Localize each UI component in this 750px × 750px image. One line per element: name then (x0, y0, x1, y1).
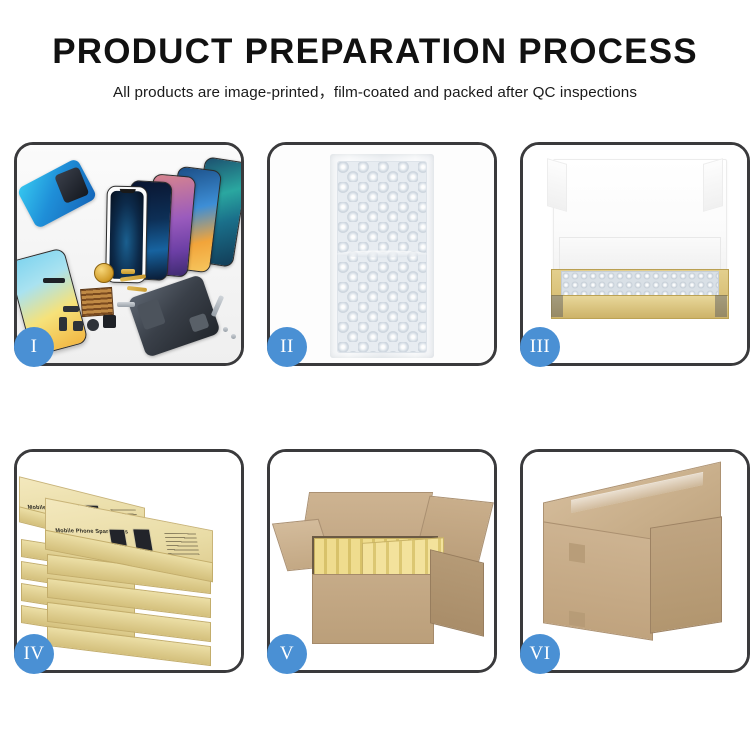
step-badge-1: I (14, 327, 54, 367)
step-panel-5: V (267, 449, 497, 673)
step-image-6 (523, 452, 747, 670)
carton-hand-hole-bottom (569, 611, 585, 628)
process-steps-grid: I II III (14, 142, 736, 673)
wrap-crease (337, 251, 427, 258)
kraft-tray-front (551, 295, 729, 319)
step-image-3 (523, 145, 747, 363)
tray-corner-left (551, 295, 563, 317)
step-image-2 (270, 145, 494, 363)
step-panel-1: I (14, 142, 244, 366)
page-subtitle: All products are image-printed，film-coat… (0, 80, 750, 102)
camera-lens-part (87, 319, 99, 331)
earpiece-part (43, 278, 65, 283)
step-badge-6: VI (520, 634, 560, 674)
page-header: PRODUCT PREPARATION PROCESS All products… (0, 0, 750, 102)
phone-screen-fan (101, 157, 241, 267)
box-stack: Mobile Phone Spare Parts Mobile Phone Sp… (17, 452, 241, 670)
box-spec-lines-2 (164, 533, 199, 556)
carton-side-face (650, 516, 722, 633)
carton-hand-hole-top (569, 543, 585, 564)
small-part-2 (59, 317, 67, 331)
box-lid-flap-left (547, 158, 567, 212)
gold-contact-part (121, 269, 135, 274)
step-panel-4: Mobile Phone Spare Parts Mobile Phone Sp… (14, 449, 244, 673)
metal-bracket-part (117, 302, 135, 307)
screw-part-2 (231, 334, 236, 339)
battery-connector-part (103, 315, 116, 328)
step-badge-5: V (267, 634, 307, 674)
step-badge-3: III (520, 327, 560, 367)
chip-array-part (80, 287, 114, 317)
tray-corner-right (715, 295, 727, 317)
step-badge-4: IV (14, 634, 54, 674)
screw-part-1 (223, 327, 228, 332)
step-image-5 (270, 452, 494, 670)
page-title: PRODUCT PREPARATION PROCESS (0, 34, 750, 71)
step-image-4: Mobile Phone Spare Parts Mobile Phone Sp… (17, 452, 241, 670)
carton-front-face (312, 574, 434, 644)
box-lid-flap-right (703, 158, 723, 212)
small-part-3 (73, 321, 83, 331)
phone-notch-icon (119, 188, 135, 192)
step-image-1 (17, 145, 241, 363)
step-panel-6: VI (520, 449, 750, 673)
small-part-1 (63, 306, 79, 312)
speaker-module-part (94, 263, 114, 283)
carton-front-face (543, 521, 653, 640)
step-panel-2: II (267, 142, 497, 366)
step-badge-2: II (267, 327, 307, 367)
carton-side-face (430, 549, 484, 636)
step-panel-3: III (520, 142, 750, 366)
